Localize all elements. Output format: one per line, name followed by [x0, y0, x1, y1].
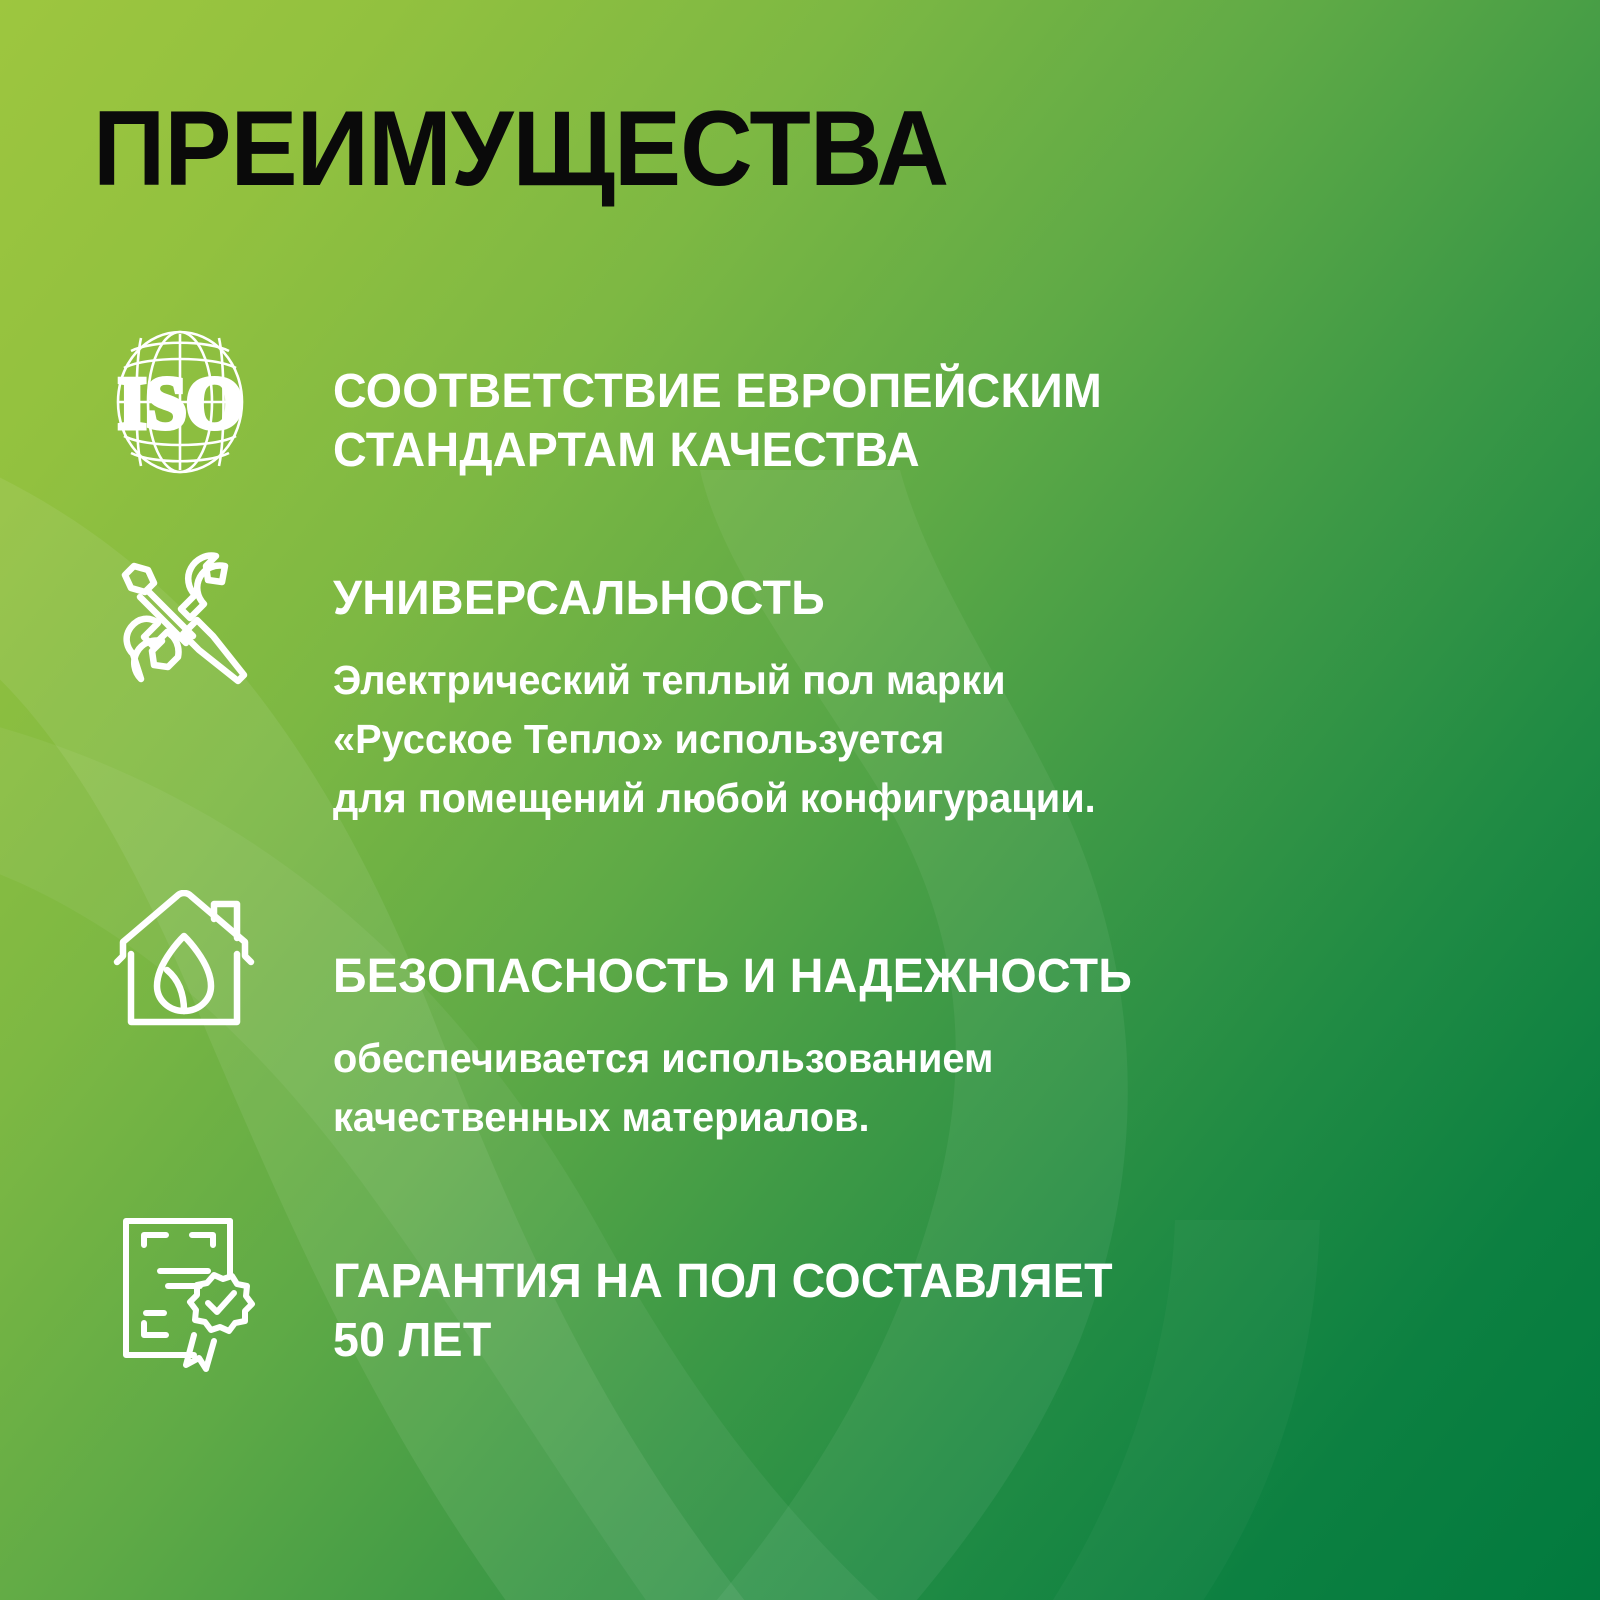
tools-wrench-screwdriver-icon [92, 548, 272, 728]
feature-heading: СООТВЕТСТВИЕ ЕВРОПЕЙСКИМ СТАНДАРТАМ КАЧЕ… [333, 363, 1497, 480]
feature-body: ГАРАНТИЯ НА ПОЛ СОСТАВЛЯЕТ 50 ЛЕТ [333, 1253, 1533, 1370]
feature-heading: УНИВЕРСАЛЬНОСТЬ [333, 570, 1497, 629]
feature-body: УНИВЕРСАЛЬНОСТЬ Электрический теплый пол… [333, 570, 1533, 828]
feature-description: Электрический теплый пол марки «Русское … [333, 651, 1497, 828]
house-leaf-icon [96, 890, 276, 1070]
feature-body: СООТВЕТСТВИЕ ЕВРОПЕЙСКИМ СТАНДАРТАМ КАЧЕ… [333, 363, 1533, 480]
iso-logo-text: ISO [118, 363, 243, 445]
feature-body: БЕЗОПАСНОСТЬ И НАДЕЖНОСТЬ обеспечивается… [333, 948, 1533, 1147]
page-title: ПРЕИМУЩЕСТВА [93, 95, 948, 202]
feature-heading: ГАРАНТИЯ НА ПОЛ СОСТАВЛЯЕТ 50 ЛЕТ [333, 1253, 1497, 1370]
feature-description: обеспечивается использованием качественн… [333, 1029, 1497, 1147]
iso-certification-icon: ISO [90, 326, 270, 506]
advantages-poster: ПРЕИМУЩЕСТВА [0, 0, 1600, 1600]
certificate-award-icon [100, 1213, 280, 1393]
feature-heading: БЕЗОПАСНОСТЬ И НАДЕЖНОСТЬ [333, 948, 1497, 1007]
